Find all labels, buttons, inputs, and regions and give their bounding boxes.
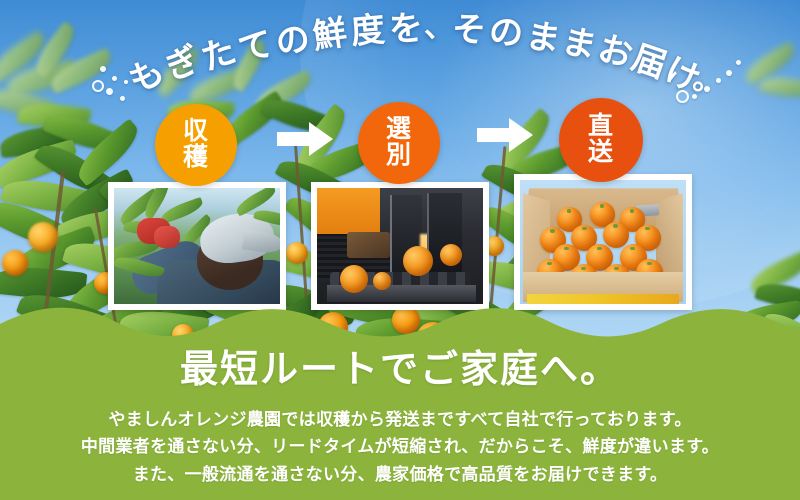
step-label-line: 選 (386, 117, 412, 143)
body-copy-line: 中間業者を通さない分、リードタイムが短縮され、だからこそ、鮮度が違います。 (0, 433, 800, 461)
green-text-block: 最短ルートでご家庭へ。 やましんオレンジ農園では収穫から発送まですべて自社で行っ… (0, 290, 800, 500)
step-circle-sort: 選 別 (358, 102, 440, 184)
arrow-right-icon (477, 118, 533, 157)
body-copy: やましんオレンジ農園では収穫から発送まですべて自社で行っております。 中間業者を… (0, 406, 800, 489)
arrow-right-icon (277, 122, 333, 161)
step-label-line: 収 (183, 119, 209, 145)
photo-sort (317, 188, 483, 304)
step-circle-harvest: 収 穫 (155, 104, 237, 186)
photo-harvest (114, 188, 280, 304)
sub-headline: 最短ルートでご家庭へ。 (0, 350, 800, 392)
step-label-line: 送 (588, 140, 614, 166)
step-label-line: 直 (588, 114, 614, 140)
step-label-line: 別 (386, 143, 412, 169)
body-copy-line: また、一般流通を通さない分、農家価格で高品質をお届けできます。 (0, 461, 800, 489)
step-circle-ship: 直 送 (559, 98, 643, 182)
body-copy-line: やましんオレンジ農園では収穫から発送まですべて自社で行っております。 (0, 406, 800, 434)
photo-ship (520, 180, 686, 304)
step-label-line: 穫 (183, 145, 209, 171)
promo-banner: も ぎ た て の 鮮 度 を 、 そ の ま ま お 届 け 。 (0, 0, 800, 500)
